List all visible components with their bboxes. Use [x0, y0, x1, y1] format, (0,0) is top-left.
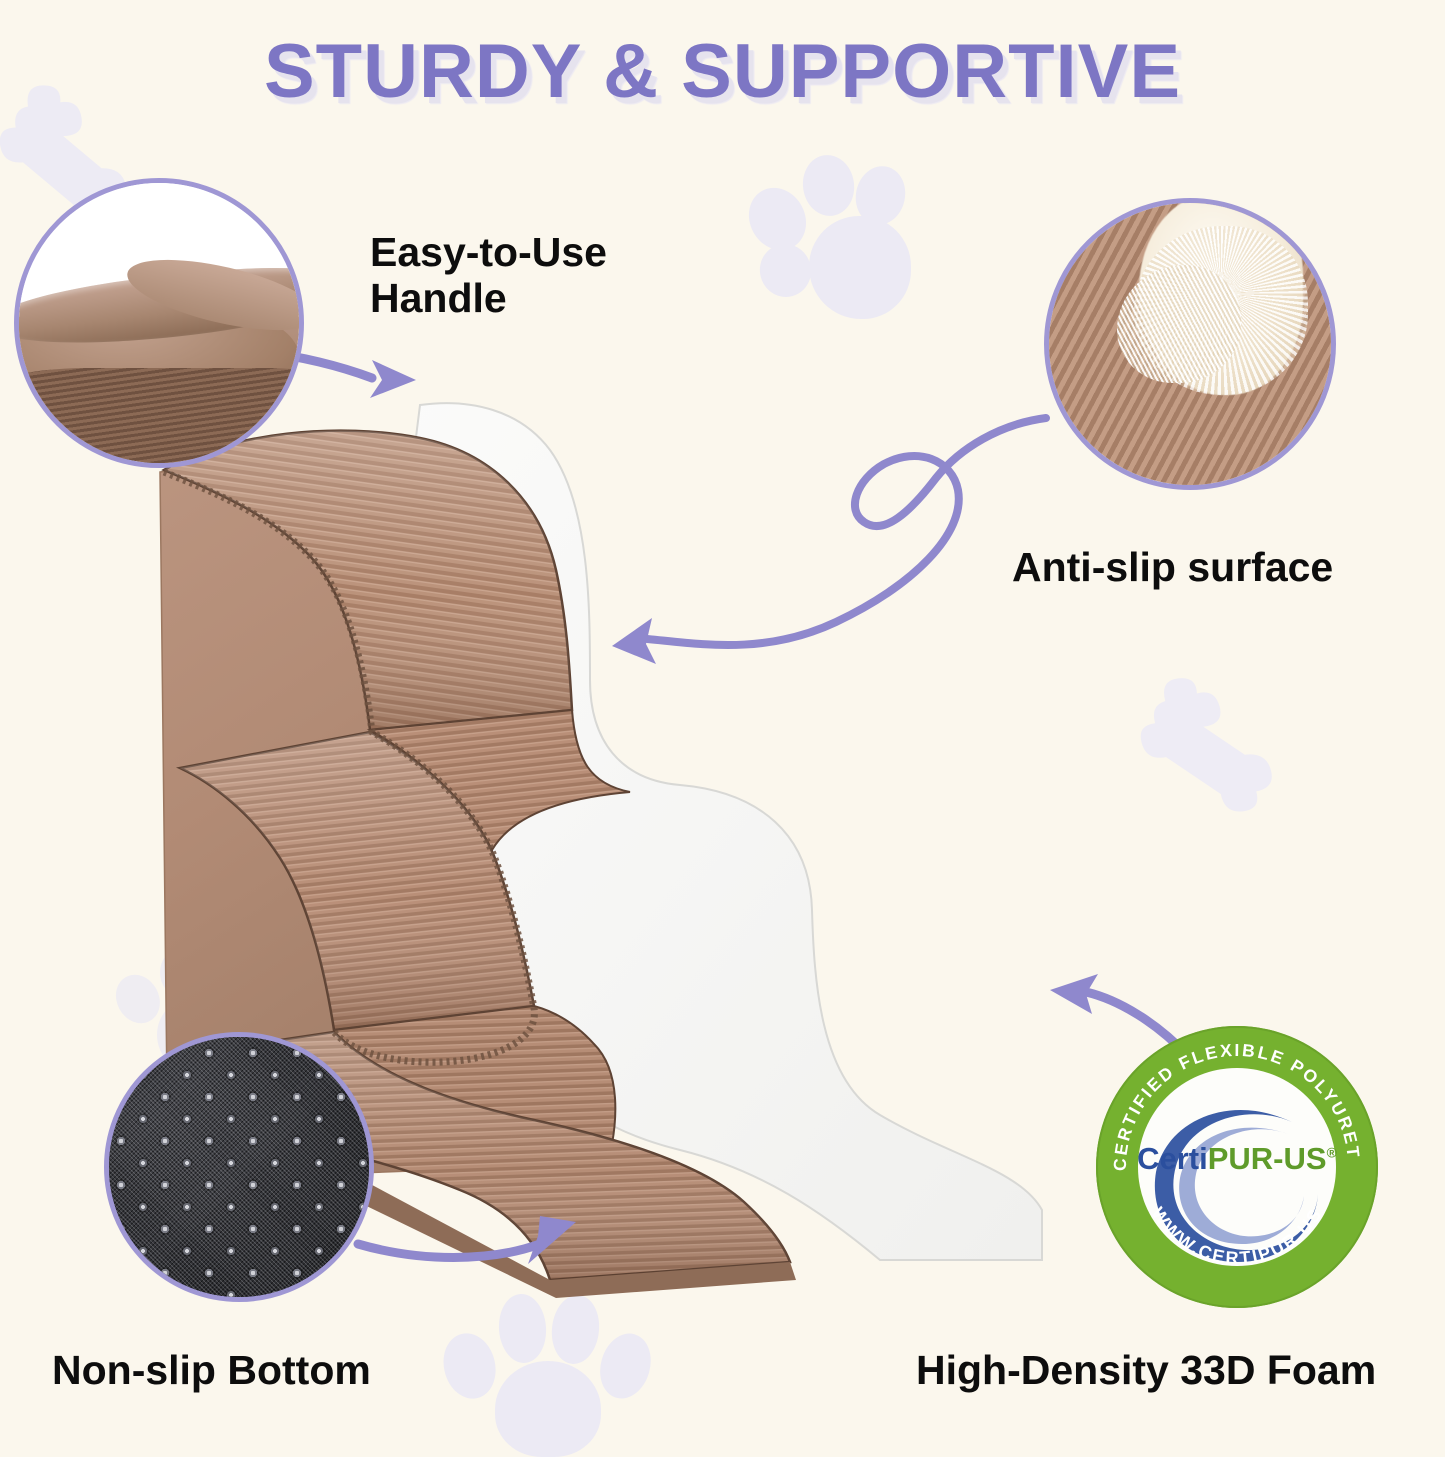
label-easy-to-use-handle: Easy-to-Use Handle [370, 230, 607, 322]
label-anti-slip-surface: Anti-slip surface [1012, 545, 1333, 591]
callout-handle-photo [14, 178, 304, 468]
wordmark-purus: PUR-US [1208, 1141, 1327, 1176]
callout-antislip-photo [1044, 198, 1336, 490]
callout-nonslip-photo [104, 1032, 374, 1302]
wordmark-registered: ® [1327, 1144, 1337, 1160]
arrow-antislip [612, 418, 1046, 664]
badge-wordmark: CertiPUR-US® [1096, 1141, 1378, 1177]
arrow-nonslip [358, 1216, 576, 1264]
label-non-slip-bottom: Non-slip Bottom [52, 1348, 371, 1394]
page-title: STURDY & SUPPORTIVE [0, 28, 1445, 115]
wordmark-certi: Certi [1137, 1141, 1208, 1176]
silicone-dots-grid-offset [109, 1037, 369, 1297]
corduroy-base [14, 368, 304, 468]
certipur-us-badge: CONTAINS CERTIFIED FLEXIBLE POLYURETHANE… [1096, 1026, 1378, 1308]
label-high-density-foam: High-Density 33D Foam [916, 1348, 1376, 1394]
infographic-canvas: STURDY & SUPPORTIVE Easy-to-Use Handle A… [0, 0, 1445, 1445]
